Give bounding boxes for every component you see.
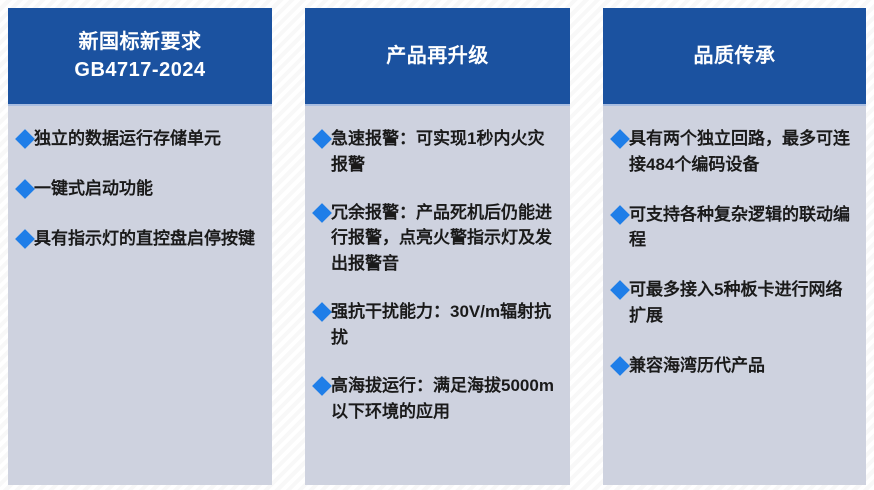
bullet-text: 一键式启动功能	[34, 176, 260, 202]
feature-panel-product-upgrade: 产品再升级 急速报警：可实现1秒内火灾报警 冗余报警：产品死机后仍能进行报警，点…	[305, 8, 570, 485]
diamond-bullet-icon	[312, 203, 332, 223]
panel-title-line-1: 品质传承	[694, 42, 776, 70]
bullet-text: 可最多接入5种板卡进行网络扩展	[629, 277, 854, 329]
diamond-bullet-icon	[312, 129, 332, 149]
panel-body-new-standard: 独立的数据运行存储单元 一键式启动功能 具有指示灯的直控盘启停按键	[8, 106, 272, 485]
list-item: 一键式启动功能	[18, 176, 260, 202]
bullet-text: 独立的数据运行存储单元	[34, 126, 260, 152]
list-item: 冗余报警：产品死机后仍能进行报警，点亮火警指示灯及发出报警音	[315, 200, 558, 277]
list-item: 具有指示灯的直控盘启停按键	[18, 226, 260, 252]
panel-title-line-1: 产品再升级	[386, 42, 489, 70]
bullet-text: 具有两个独立回路，最多可连接484个编码设备	[629, 126, 854, 178]
panel-title-line-1: 新国标新要求	[79, 28, 202, 56]
panel-header-new-standard: 新国标新要求 GB4717-2024	[8, 8, 272, 106]
bullet-list-quality-heritage: 具有两个独立回路，最多可连接484个编码设备 可支持各种复杂逻辑的联动编程 可最…	[613, 126, 854, 379]
panel-title-line-2: GB4717-2024	[74, 56, 205, 84]
bullet-text: 强抗干扰能力：30V/m辐射抗扰	[331, 299, 558, 351]
panel-header-quality-heritage: 品质传承	[603, 8, 866, 106]
bullet-text: 可支持各种复杂逻辑的联动编程	[629, 202, 854, 254]
diamond-bullet-icon	[312, 302, 332, 322]
bullet-text: 兼容海湾历代产品	[629, 353, 854, 379]
diamond-bullet-icon	[610, 205, 630, 225]
bullet-text: 冗余报警：产品死机后仍能进行报警，点亮火警指示灯及发出报警音	[331, 200, 558, 277]
list-item: 可支持各种复杂逻辑的联动编程	[613, 202, 854, 254]
bullet-text: 高海拔运行：满足海拔5000m以下环境的应用	[331, 373, 558, 425]
list-item: 具有两个独立回路，最多可连接484个编码设备	[613, 126, 854, 178]
diamond-bullet-icon	[15, 179, 35, 199]
list-item: 高海拔运行：满足海拔5000m以下环境的应用	[315, 373, 558, 425]
feature-panel-new-standard: 新国标新要求 GB4717-2024 独立的数据运行存储单元 一键式启动功能 具…	[8, 8, 272, 485]
list-item: 强抗干扰能力：30V/m辐射抗扰	[315, 299, 558, 351]
list-item: 可最多接入5种板卡进行网络扩展	[613, 277, 854, 329]
bullet-list-product-upgrade: 急速报警：可实现1秒内火灾报警 冗余报警：产品死机后仍能进行报警，点亮火警指示灯…	[315, 126, 558, 424]
diamond-bullet-icon	[610, 280, 630, 300]
feature-panel-quality-heritage: 品质传承 具有两个独立回路，最多可连接484个编码设备 可支持各种复杂逻辑的联动…	[603, 8, 866, 485]
bullet-text: 具有指示灯的直控盘启停按键	[34, 226, 260, 252]
slide-canvas: 新国标新要求 GB4717-2024 独立的数据运行存储单元 一键式启动功能 具…	[0, 0, 874, 490]
list-item: 兼容海湾历代产品	[613, 353, 854, 379]
bullet-list-new-standard: 独立的数据运行存储单元 一键式启动功能 具有指示灯的直控盘启停按键	[18, 126, 260, 251]
panel-header-product-upgrade: 产品再升级	[305, 8, 570, 106]
panel-body-quality-heritage: 具有两个独立回路，最多可连接484个编码设备 可支持各种复杂逻辑的联动编程 可最…	[603, 106, 866, 485]
bullet-text: 急速报警：可实现1秒内火灾报警	[331, 126, 558, 178]
diamond-bullet-icon	[610, 356, 630, 376]
list-item: 急速报警：可实现1秒内火灾报警	[315, 126, 558, 178]
diamond-bullet-icon	[610, 129, 630, 149]
diamond-bullet-icon	[15, 229, 35, 249]
panel-body-product-upgrade: 急速报警：可实现1秒内火灾报警 冗余报警：产品死机后仍能进行报警，点亮火警指示灯…	[305, 106, 570, 485]
diamond-bullet-icon	[15, 129, 35, 149]
list-item: 独立的数据运行存储单元	[18, 126, 260, 152]
diamond-bullet-icon	[312, 376, 332, 396]
